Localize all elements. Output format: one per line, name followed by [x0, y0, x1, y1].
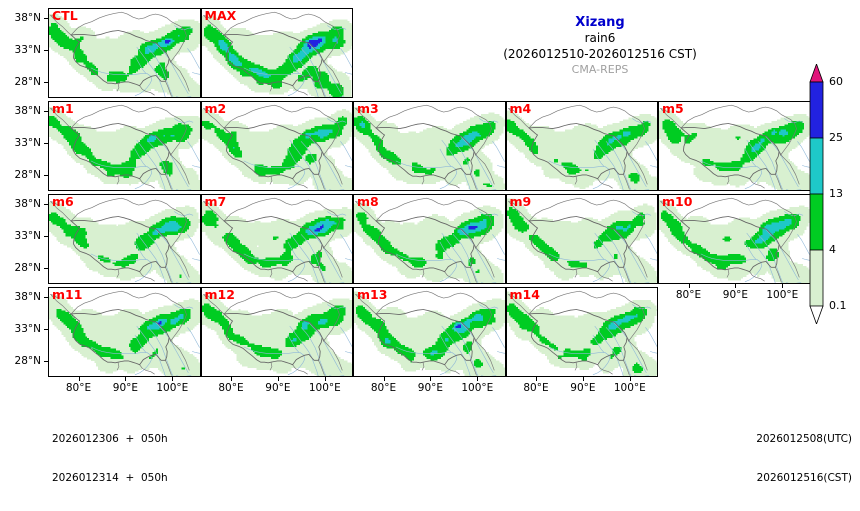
colorbar: 60251340.1 — [806, 64, 860, 324]
y-tickmark — [44, 297, 48, 298]
footer-left-line1: 2026012306 + 050h — [52, 433, 168, 446]
precipitation-field — [507, 198, 658, 284]
panel-label: m3 — [357, 102, 379, 116]
title-region: Xizang — [455, 14, 745, 31]
x-tickmark — [630, 377, 631, 381]
panel-label: m10 — [662, 195, 692, 209]
y-tickmark — [44, 329, 48, 330]
y-axis-label: 33°N — [1, 231, 41, 241]
colorbar-segment — [810, 250, 823, 306]
x-tickmark — [125, 377, 126, 381]
precipitation-field — [202, 109, 354, 191]
x-axis-label: 90°E — [558, 383, 608, 393]
panel-label: CTL — [52, 9, 78, 23]
colorbar-tick-label: 25 — [829, 132, 843, 143]
map-panel-m13[interactable]: m13 — [353, 287, 506, 377]
colorbar-under-cap — [810, 306, 823, 324]
precipitation-field — [202, 295, 354, 377]
panel-label: m4 — [510, 102, 532, 116]
y-axis-label: 38°N — [1, 13, 41, 23]
y-axis-label: 33°N — [1, 138, 41, 148]
y-axis-label: 33°N — [1, 324, 41, 334]
map-panel-m1[interactable]: m1 — [48, 101, 201, 191]
panel-label: m9 — [510, 195, 532, 209]
map-panel-m7[interactable]: m7 — [201, 194, 354, 284]
precipitation-field — [49, 107, 201, 191]
colorbar-tick-label: 4 — [829, 244, 836, 255]
y-axis-label: 28°N — [1, 77, 41, 87]
y-axis-label: 28°N — [1, 263, 41, 273]
x-axis-label: 80°E — [664, 290, 714, 300]
panel-label: m5 — [662, 102, 684, 116]
y-axis-label: 28°N — [1, 170, 41, 180]
y-axis-label: 28°N — [1, 356, 41, 366]
x-tickmark — [231, 377, 232, 381]
colorbar-segment — [810, 82, 823, 138]
panel-label: MAX — [205, 9, 237, 23]
panel-label: m14 — [510, 288, 540, 302]
x-tickmark — [430, 377, 431, 381]
panel-label: m11 — [52, 288, 82, 302]
map-panel-max[interactable]: MAX — [201, 8, 354, 98]
colorbar-tick-label: 13 — [829, 188, 843, 199]
panel-label: m2 — [205, 102, 227, 116]
x-tickmark — [536, 377, 537, 381]
y-tickmark — [44, 361, 48, 362]
y-tickmark — [44, 204, 48, 205]
x-tickmark — [325, 377, 326, 381]
precipitation-field — [659, 109, 811, 191]
x-axis-label: 90°E — [405, 383, 455, 393]
colorbar-over-cap — [810, 64, 823, 82]
footer-right-line1: 2026012508(UTC) — [756, 433, 852, 446]
y-axis-label: 38°N — [1, 199, 41, 209]
x-tickmark — [384, 377, 385, 381]
x-axis-label: 100°E — [605, 383, 655, 393]
map-panel-m5[interactable]: m5 — [658, 101, 811, 191]
precipitation-field — [507, 111, 659, 191]
y-tickmark — [44, 82, 48, 83]
y-tickmark — [44, 236, 48, 237]
precipitation-field — [202, 202, 354, 284]
x-axis-label: 90°E — [710, 290, 760, 300]
map-panel-m10[interactable]: m10 — [658, 194, 811, 284]
footer-left: 2026012306 + 050h 2026012314 + 050h — [52, 407, 168, 511]
footer-right: 2026012508(UTC) 2026012516(CST) — [756, 407, 852, 511]
x-tickmark — [477, 377, 478, 381]
y-tickmark — [44, 268, 48, 269]
title-variable: rain6 — [455, 31, 745, 47]
x-tickmark — [689, 284, 690, 288]
x-tickmark — [79, 377, 80, 381]
x-axis-label: 80°E — [54, 383, 104, 393]
precipitation-field — [659, 200, 811, 284]
x-axis-label: 100°E — [757, 290, 807, 300]
x-tickmark — [782, 284, 783, 288]
map-panel-m6[interactable]: m6 — [48, 194, 201, 284]
map-panel-m8[interactable]: m8 — [353, 194, 506, 284]
y-tickmark — [44, 175, 48, 176]
panel-label: m8 — [357, 195, 379, 209]
map-panel-m2[interactable]: m2 — [201, 101, 354, 191]
colorbar-segment — [810, 194, 823, 250]
x-axis-label: 80°E — [206, 383, 256, 393]
panel-label: m7 — [205, 195, 227, 209]
precipitation-field — [354, 202, 503, 284]
map-panel-m12[interactable]: m12 — [201, 287, 354, 377]
title-period: (2026012510-2026012516 CST) — [455, 47, 745, 63]
y-tickmark — [44, 18, 48, 19]
y-tickmark — [44, 143, 48, 144]
y-axis-label: 38°N — [1, 106, 41, 116]
map-panel-m9[interactable]: m9 — [506, 194, 659, 284]
x-axis-label: 90°E — [253, 383, 303, 393]
precipitation-field — [202, 16, 354, 98]
panel-label: m13 — [357, 288, 387, 302]
colorbar-tick-label: 0.1 — [829, 300, 847, 311]
footer-left-line2: 2026012314 + 050h — [52, 472, 168, 485]
y-tickmark — [44, 111, 48, 112]
y-axis-label: 38°N — [1, 292, 41, 302]
x-axis-label: 80°E — [511, 383, 561, 393]
x-axis-label: 90°E — [100, 383, 150, 393]
x-axis-label: 100°E — [300, 383, 350, 393]
chart-title-block: Xizang rain6 (2026012510-2026012516 CST)… — [455, 14, 745, 77]
colorbar-segment — [810, 138, 823, 194]
map-panel-m14[interactable]: m14 — [506, 287, 659, 377]
x-tickmark — [278, 377, 279, 381]
map-panel-m11[interactable]: m11 — [48, 287, 201, 377]
map-panel-m4[interactable]: m4 — [506, 101, 659, 191]
x-axis-label: 100°E — [452, 383, 502, 393]
x-tickmark — [583, 377, 584, 381]
map-panel-m3[interactable]: m3 — [353, 101, 506, 191]
precipitation-field — [49, 295, 201, 377]
y-axis-label: 33°N — [1, 45, 41, 55]
x-axis-label: 80°E — [359, 383, 409, 393]
x-tickmark — [735, 284, 736, 288]
colorbar-tick-label: 60 — [829, 76, 843, 87]
panel-label: m6 — [52, 195, 74, 209]
panel-label: m1 — [52, 102, 74, 116]
map-panel-ctl[interactable]: CTL — [48, 8, 201, 98]
precipitation-field — [49, 14, 201, 98]
x-tickmark — [172, 377, 173, 381]
panel-label: m12 — [205, 288, 235, 302]
precipitation-field — [354, 107, 505, 191]
footer-right-line2: 2026012516(CST) — [756, 472, 852, 485]
title-source: CMA-REPS — [455, 63, 745, 78]
y-tickmark — [44, 50, 48, 51]
x-axis-label: 100°E — [147, 383, 197, 393]
precipitation-field — [49, 202, 200, 284]
